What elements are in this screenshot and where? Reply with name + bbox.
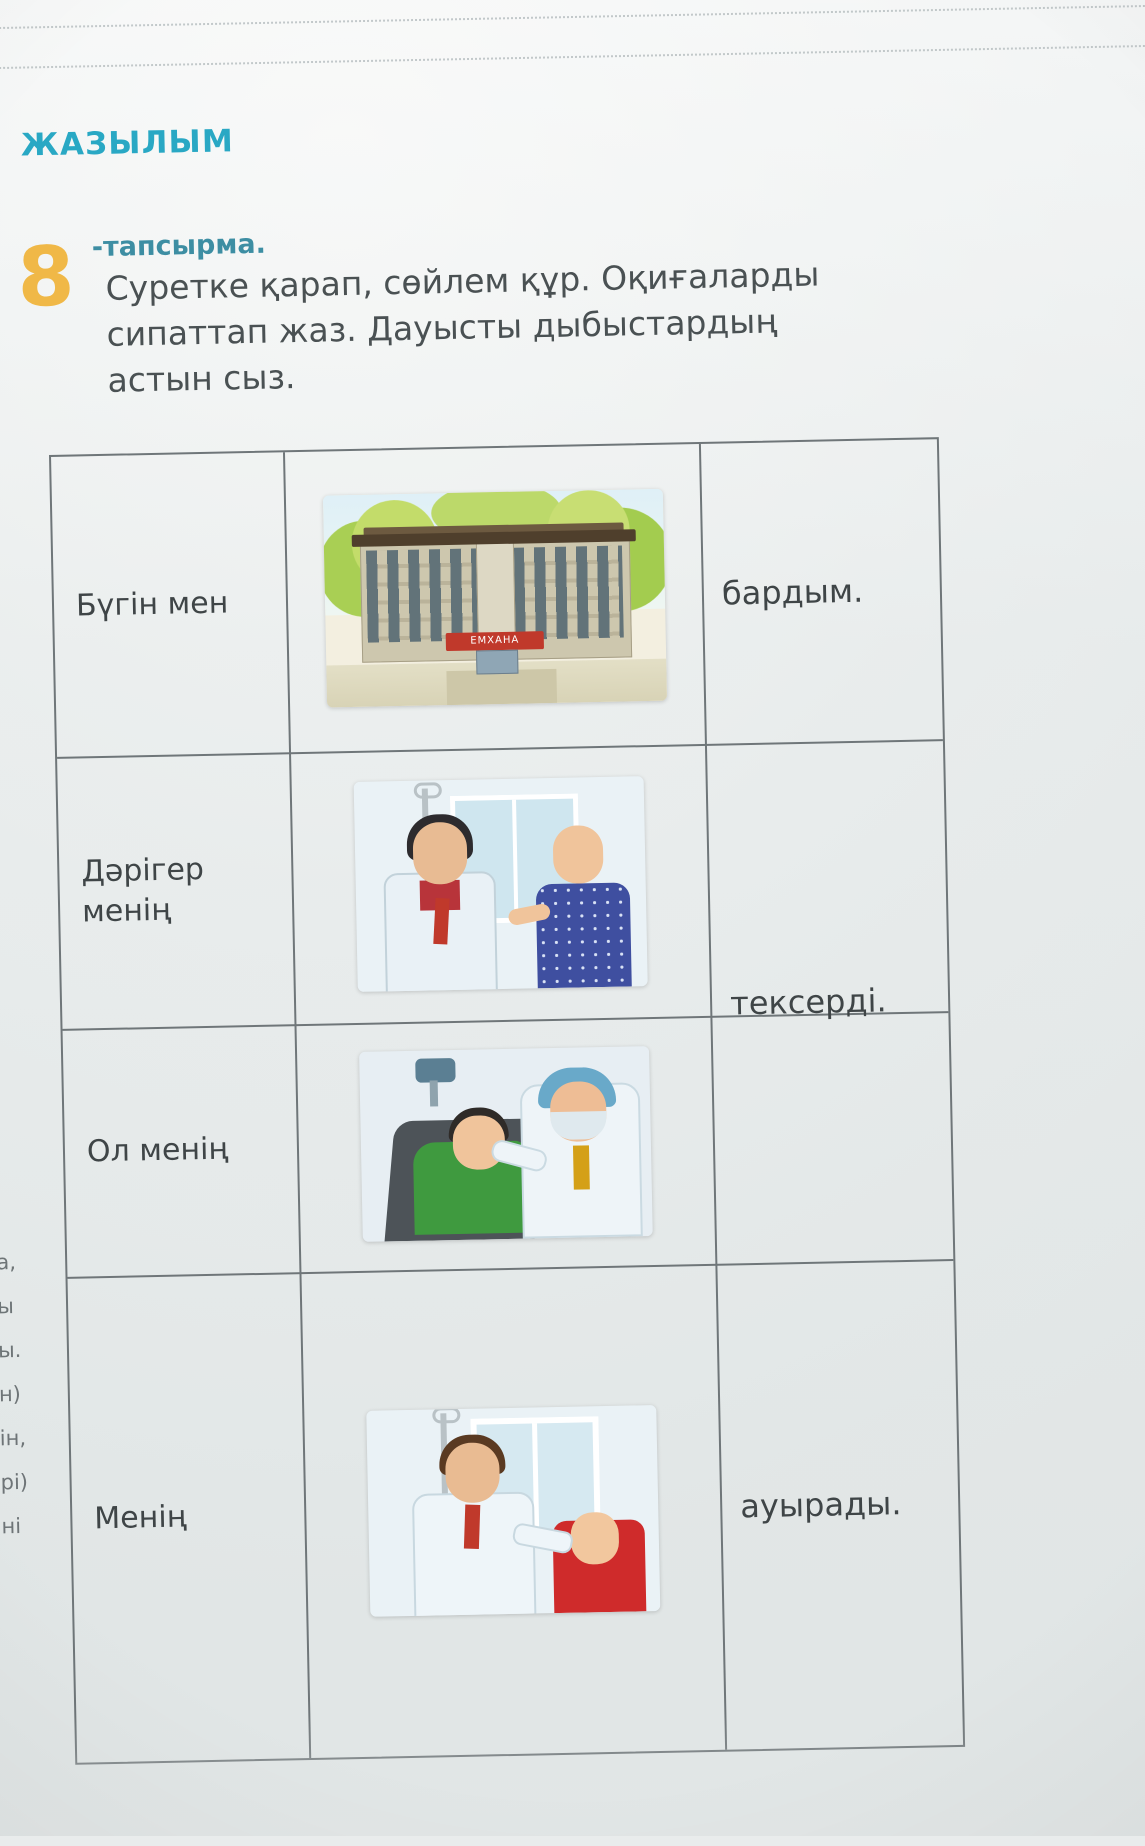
row-4-picture-cell: [301, 1264, 725, 1758]
girl-dress-pattern: [536, 882, 632, 988]
row-1-right-cell: бардым.: [701, 439, 943, 744]
row-1-left-text: Бүгін мен: [76, 583, 229, 626]
girl-head-shape: [553, 825, 604, 884]
row-4-right-text: ауырады.: [740, 1484, 902, 1525]
dentist-tie-shape: [573, 1145, 590, 1189]
row-3-picture-cell: [296, 1016, 715, 1272]
page-content: ЖАЗЫЛЫМ 8 -тапсырма. Суретке қарап, сөйл…: [0, 0, 1145, 1846]
row-4-left-text: Менің: [94, 1497, 187, 1539]
task-instruction: Суретке қарап, сөйлем құр. Оқиғаларды си…: [105, 249, 968, 404]
table-row: Дәрігер менің: [57, 752, 294, 1029]
table-row: Бүгін мен: [51, 452, 289, 757]
doctor-head-shape: [412, 822, 467, 885]
table-row: Ол менің: [63, 1024, 300, 1277]
doctor-examining-small-girl-icon: [366, 1405, 660, 1617]
section-title: ЖАЗЫЛЫМ: [20, 123, 234, 163]
textbook-page: а, ы ы. н) ін, рі) ні ЖАЗЫЛЫМ 8 -тапсырм…: [0, 0, 1145, 1836]
exercise-table: Бүгін мен ЕМХАНА: [49, 437, 965, 1765]
clinic-sign: ЕМХАНА: [446, 631, 544, 651]
row-2-picture-cell: [291, 744, 710, 1024]
doctor-tie-shape: [464, 1505, 480, 1549]
door-shape: [476, 650, 518, 675]
row-2-right-text: тексерді.: [730, 981, 887, 1022]
girl-head-shape: [570, 1512, 619, 1565]
row-2-left-text: Дәрігер менің: [81, 849, 277, 933]
doctor-examining-girl-icon: [354, 776, 648, 992]
row-1-picture-cell: ЕМХАНА: [285, 444, 705, 752]
dental-lamp-icon: [415, 1058, 455, 1083]
table-row: Менің: [67, 1272, 309, 1763]
row-2-3-right-cell-merged: тексерді.: [707, 739, 953, 1264]
row-4-right-cell: ауырады.: [717, 1259, 963, 1750]
row-3-left-text: Ол менің: [87, 1130, 229, 1173]
doctor-head-shape: [445, 1442, 500, 1503]
dentist-examining-boy-icon: [359, 1046, 653, 1242]
path-shape: [446, 669, 557, 705]
row-1-right-text: бардым.: [722, 572, 864, 613]
task-number: 8: [17, 236, 76, 319]
task-label: -тапсырма.: [92, 229, 267, 263]
clinic-building-icon: ЕМХАНА: [323, 489, 667, 708]
doctor-tie-shape: [433, 898, 449, 945]
